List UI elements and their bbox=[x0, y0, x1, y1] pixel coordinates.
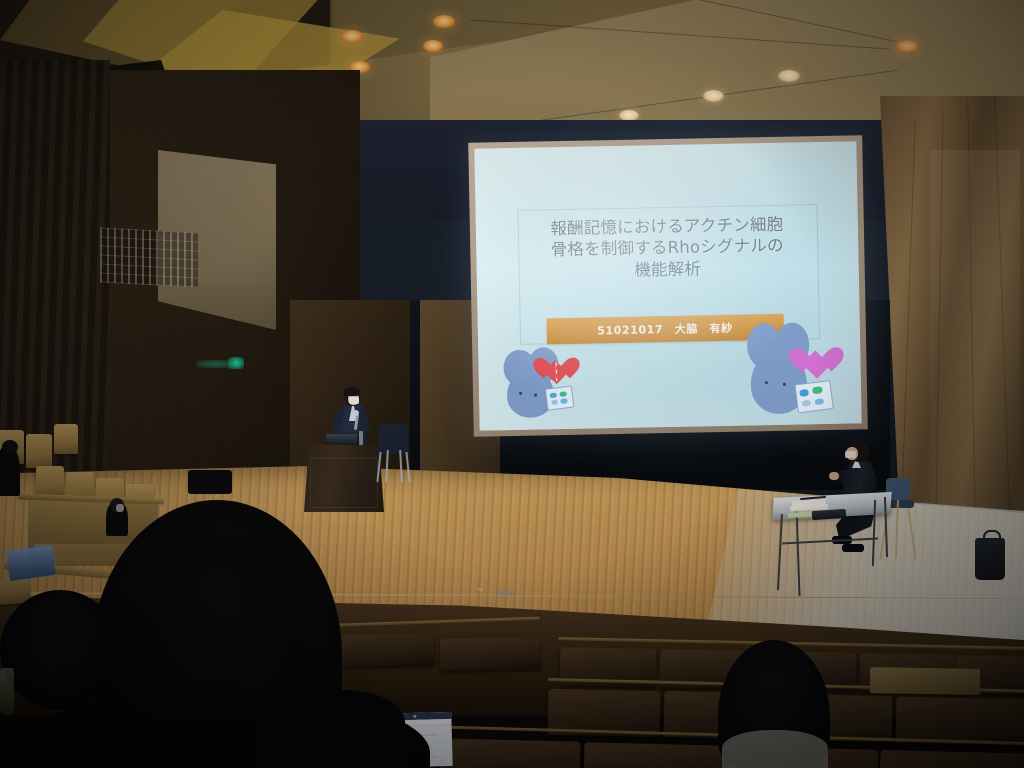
floor-bag bbox=[975, 538, 1005, 580]
audience-head bbox=[2, 440, 18, 454]
chair-leg bbox=[385, 450, 389, 482]
slide-title: 報酬記憶におけるアクチン細胞 骨格を制御するRhoシグナルの 機能解析 bbox=[499, 212, 836, 284]
ceiling-downlight bbox=[778, 70, 800, 82]
ceiling-downlight bbox=[341, 30, 363, 43]
presenter-hair bbox=[344, 387, 360, 396]
seat-row-item[interactable] bbox=[440, 637, 541, 671]
audience-laptop-left[interactable] bbox=[6, 545, 56, 581]
presentation-slide: 報酬記憶におけるアクチン細胞 骨格を制御するRhoシグナルの 機能解析 5102… bbox=[474, 141, 861, 430]
empty-chair bbox=[374, 420, 416, 484]
audience-shoulder-center bbox=[255, 690, 405, 768]
face-mask bbox=[116, 504, 124, 512]
seat-row-item[interactable] bbox=[439, 738, 580, 768]
pill-tray-icon bbox=[795, 380, 834, 413]
ceiling-downlight bbox=[703, 90, 724, 102]
pill-tray-icon bbox=[544, 385, 574, 410]
podium-front-panel bbox=[310, 458, 378, 508]
seat-row-item[interactable] bbox=[583, 742, 724, 768]
moderator-hand bbox=[829, 472, 839, 480]
heart-icon bbox=[801, 349, 831, 376]
chair-back bbox=[378, 424, 408, 448]
projection-screen: 報酬記憶におけるアクチン細胞 骨格を制御するRhoシグナルの 機能解析 5102… bbox=[474, 141, 861, 430]
audience-head-left-lower bbox=[0, 590, 120, 710]
chair-leg bbox=[405, 452, 410, 482]
wooden-ledge bbox=[870, 667, 980, 695]
face-mask bbox=[349, 397, 359, 404]
microphone-head bbox=[353, 410, 359, 416]
projection-screen-frame: 報酬記憶におけるアクチン細胞 骨格を制御するRhoシグナルの 機能解析 5102… bbox=[468, 135, 868, 437]
chair-leg bbox=[376, 452, 381, 482]
left-mouse-illustration bbox=[501, 347, 586, 425]
moderator-shoe bbox=[842, 544, 864, 552]
ceiling-downlight bbox=[423, 40, 443, 52]
exit-sign-glow bbox=[196, 360, 236, 368]
seat-row-item[interactable] bbox=[879, 750, 1024, 768]
wooden-seat[interactable] bbox=[26, 434, 52, 468]
auditorium-scene: 報酬記憶におけるアクチン細胞 骨格を制御するRhoシグナルの 機能解析 5102… bbox=[0, 0, 1024, 768]
decorative-grille bbox=[100, 227, 198, 287]
right-mouse-illustration bbox=[745, 322, 846, 420]
left-curtain bbox=[0, 60, 110, 480]
chair-leg bbox=[895, 500, 899, 558]
seat-row-item[interactable] bbox=[330, 633, 435, 667]
presenter-laptop-screen bbox=[326, 434, 357, 444]
ceiling-downlight bbox=[433, 15, 455, 28]
chair-leg bbox=[907, 508, 916, 560]
wooden-seat[interactable] bbox=[54, 424, 78, 454]
face-mask bbox=[845, 451, 856, 458]
audience-collar-center bbox=[722, 730, 828, 768]
ceiling-downlight bbox=[895, 40, 919, 53]
floor-screw bbox=[478, 588, 483, 591]
audience-equipment bbox=[188, 470, 232, 494]
mouse-eye-right bbox=[534, 393, 537, 396]
chair-leg bbox=[399, 450, 403, 482]
broken-heart-icon bbox=[543, 359, 569, 382]
water-bottle bbox=[0, 668, 14, 714]
